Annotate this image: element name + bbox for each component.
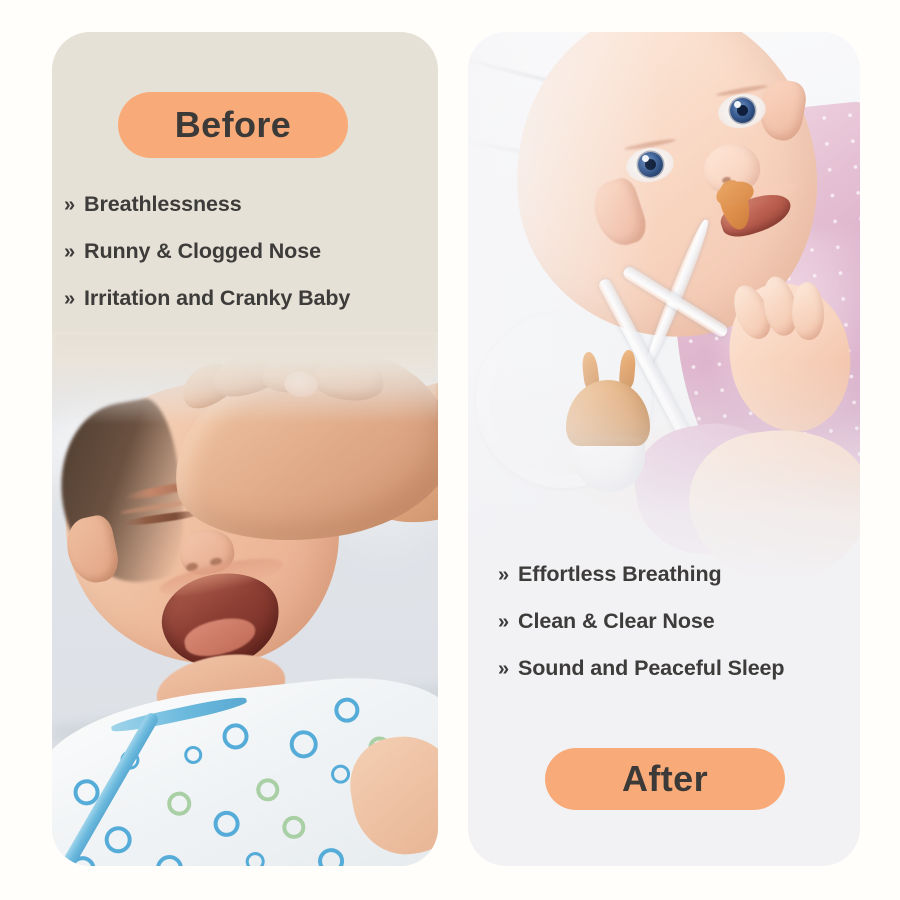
list-item-label: Breathlessness xyxy=(84,192,242,217)
before-after-comparison: Before » Breathlessness » Runny & Clogge… xyxy=(0,0,900,900)
list-item: » Clean & Clear Nose xyxy=(498,609,784,634)
photo-bottom-fade xyxy=(468,362,860,592)
chevron-double-right-icon: » xyxy=(498,565,509,585)
chevron-double-right-icon: » xyxy=(64,195,75,215)
list-item-label: Clean & Clear Nose xyxy=(518,609,715,634)
chevron-double-right-icon: » xyxy=(64,242,75,262)
after-panel: » Effortless Breathing » Clean & Clear N… xyxy=(468,32,860,866)
chevron-double-right-icon: » xyxy=(64,289,75,309)
eye-highlight xyxy=(734,101,741,108)
list-item: » Effortless Breathing xyxy=(498,562,784,587)
list-item: » Breathlessness xyxy=(64,192,350,217)
list-item: » Irritation and Cranky Baby xyxy=(64,286,350,311)
list-item: » Sound and Peaceful Sleep xyxy=(498,656,784,681)
photo-top-fade xyxy=(52,332,438,424)
list-item-label: Runny & Clogged Nose xyxy=(84,239,321,264)
list-item: » Runny & Clogged Nose xyxy=(64,239,350,264)
list-item-label: Sound and Peaceful Sleep xyxy=(518,656,784,681)
after-bullet-list: » Effortless Breathing » Clean & Clear N… xyxy=(498,562,784,681)
list-item-label: Effortless Breathing xyxy=(518,562,721,587)
chevron-double-right-icon: » xyxy=(498,612,509,632)
after-photo xyxy=(468,32,860,592)
chevron-double-right-icon: » xyxy=(498,659,509,679)
before-photo xyxy=(52,332,438,866)
after-badge[interactable]: After xyxy=(545,748,785,810)
before-panel: Before » Breathlessness » Runny & Clogge… xyxy=(52,32,438,866)
list-item-label: Irritation and Cranky Baby xyxy=(84,286,350,311)
before-bullet-list: » Breathlessness » Runny & Clogged Nose … xyxy=(64,192,350,311)
before-badge[interactable]: Before xyxy=(118,92,348,158)
